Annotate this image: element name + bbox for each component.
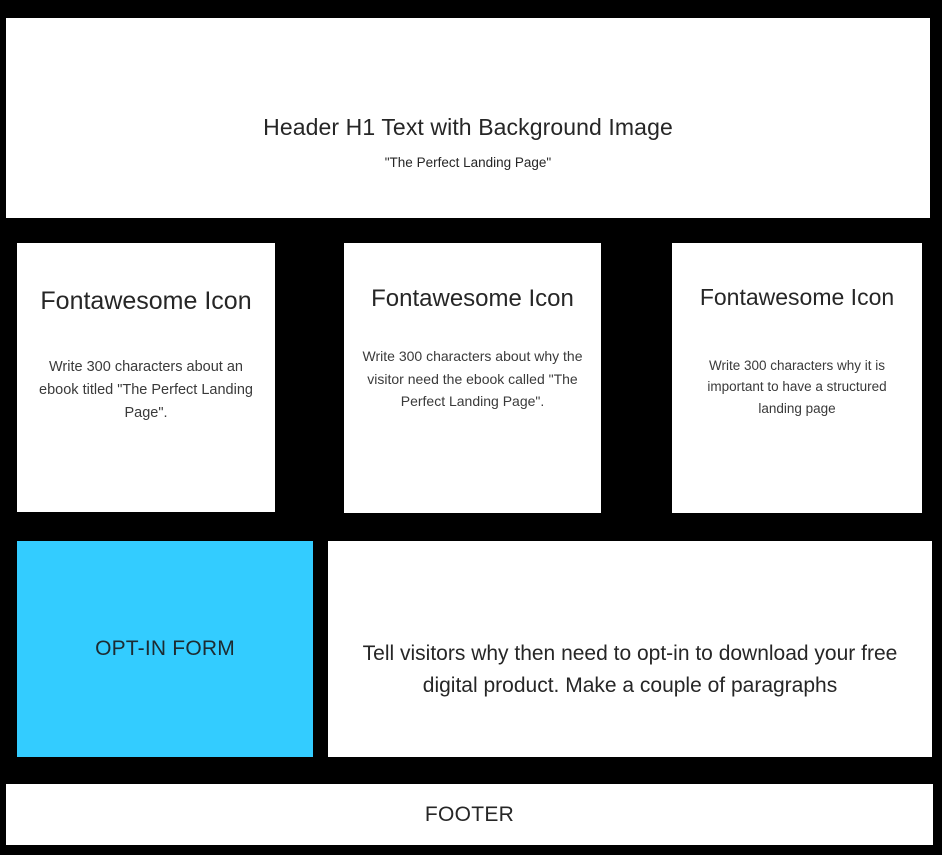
page-title: Header H1 Text with Background Image <box>6 113 930 142</box>
feature-card-1: Fontawesome Icon Write 300 characters ab… <box>17 243 275 512</box>
pitch-copy-text: Tell visitors why then need to opt-in to… <box>354 638 906 702</box>
feature-card-2-body: Write 300 characters about why the visit… <box>358 345 587 413</box>
opt-in-form-block[interactable]: OPT-IN FORM <box>17 541 313 757</box>
footer-section: FOOTER <box>6 784 933 845</box>
feature-card-3: Fontawesome Icon Write 300 characters wh… <box>672 243 922 513</box>
hero-header-section: Header H1 Text with Background Image "Th… <box>6 18 930 218</box>
hero-subtitle: "The Perfect Landing Page" <box>6 155 930 172</box>
pitch-copy-block: Tell visitors why then need to opt-in to… <box>328 541 932 757</box>
feature-card-1-body: Write 300 characters about an ebook titl… <box>31 356 261 426</box>
feature-card-3-title: Fontawesome Icon <box>678 284 916 312</box>
feature-card-3-body: Write 300 characters why it is important… <box>686 355 908 421</box>
footer-label: FOOTER <box>425 803 514 827</box>
feature-card-2-title: Fontawesome Icon <box>350 285 595 314</box>
opt-in-form-label: OPT-IN FORM <box>95 637 235 661</box>
feature-card-2: Fontawesome Icon Write 300 characters ab… <box>344 243 601 513</box>
feature-card-1-title: Fontawesome Icon <box>23 286 269 316</box>
landing-page-wireframe: Header H1 Text with Background Image "Th… <box>0 0 942 855</box>
